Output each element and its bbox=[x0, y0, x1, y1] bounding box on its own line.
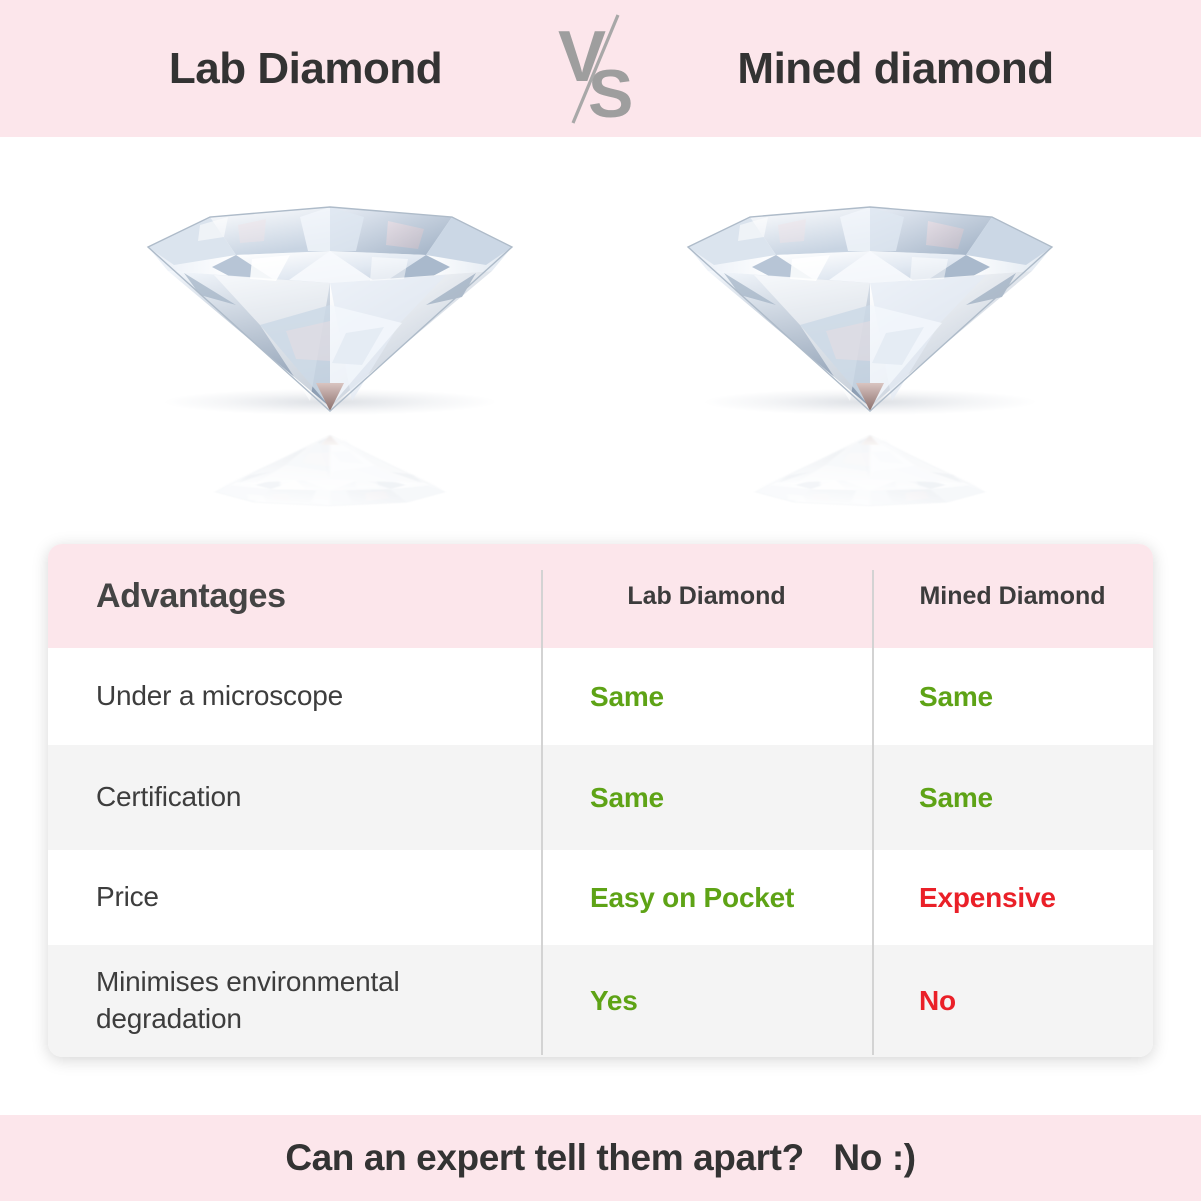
page-title-mined-diamond: Mined diamond bbox=[656, 44, 1136, 94]
lab-diamond-image bbox=[90, 137, 570, 537]
row-label: Price bbox=[48, 879, 541, 916]
column-header-advantages: Advantages bbox=[48, 577, 541, 616]
row-label: Minimises environmental degradation bbox=[48, 964, 541, 1038]
column-header-mined-diamond: Mined Diamond bbox=[872, 582, 1153, 611]
row-label: Under a microscope bbox=[48, 678, 541, 715]
mined-diamond-graphic bbox=[680, 155, 1060, 425]
bottom-footer-band: Can an expert tell them apart? No :) bbox=[0, 1115, 1201, 1201]
table-row: Price Easy on Pocket Expensive bbox=[48, 850, 1153, 945]
diamond-images-section bbox=[0, 137, 1201, 537]
row-value-lab: Same bbox=[541, 681, 872, 713]
lab-diamond-reflection bbox=[140, 430, 520, 524]
row-value-lab: Yes bbox=[541, 985, 872, 1017]
header-title-row: Lab Diamond V S Mined diamond bbox=[0, 9, 1201, 129]
lab-diamond-graphic bbox=[140, 155, 520, 425]
comparison-table: Advantages Lab Diamond Mined Diamond Und… bbox=[48, 544, 1153, 1057]
table-header-row: Advantages Lab Diamond Mined Diamond bbox=[48, 544, 1153, 648]
mined-diamond-image bbox=[630, 137, 1110, 537]
mined-diamond-reflection bbox=[680, 430, 1060, 524]
row-value-lab: Same bbox=[541, 782, 872, 814]
footer-question: Can an expert tell them apart? No :) bbox=[285, 1137, 915, 1179]
column-header-lab-diamond: Lab Diamond bbox=[541, 582, 872, 611]
table-row: Certification Same Same bbox=[48, 745, 1153, 850]
top-header-band: Lab Diamond V S Mined diamond bbox=[0, 0, 1201, 137]
column-divider-1 bbox=[541, 570, 543, 1055]
column-divider-2 bbox=[872, 570, 874, 1055]
page-title-lab-diamond: Lab Diamond bbox=[66, 44, 546, 94]
row-value-mined: Same bbox=[872, 782, 1153, 814]
table-row: Under a microscope Same Same bbox=[48, 648, 1153, 745]
row-label: Certification bbox=[48, 779, 541, 816]
table-row: Minimises environmental degradation Yes … bbox=[48, 945, 1153, 1057]
versus-icon: V S bbox=[546, 9, 656, 129]
row-value-lab: Easy on Pocket bbox=[541, 882, 872, 914]
row-value-mined: Expensive bbox=[872, 882, 1153, 914]
row-value-mined: No bbox=[872, 985, 1153, 1017]
row-value-mined: Same bbox=[872, 681, 1153, 713]
